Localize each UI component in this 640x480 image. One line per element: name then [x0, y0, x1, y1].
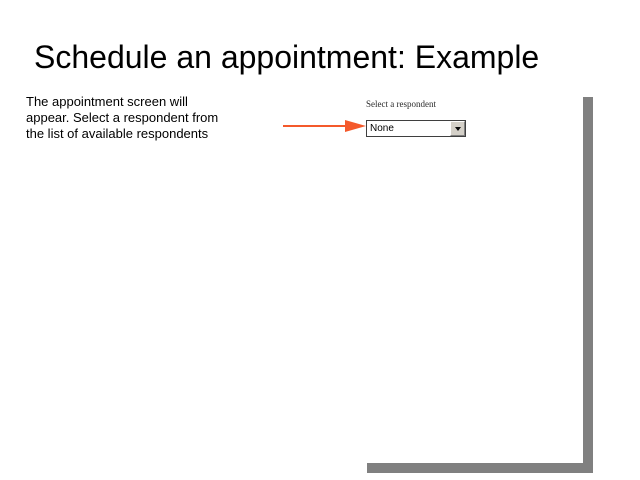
respondent-select[interactable]: None [366, 120, 466, 137]
frame-shadow-bottom [367, 463, 593, 473]
body-text-block: The appointment screen will appear. Sele… [26, 94, 258, 142]
embedded-screenshot: Select a respondent None [362, 92, 594, 474]
caret-glyph [455, 127, 461, 131]
body-text-line: the list of available respondents [26, 126, 258, 142]
body-text-line: appear. Select a respondent from [26, 110, 258, 126]
chevron-down-icon[interactable] [450, 121, 465, 136]
arrow-right-icon [282, 118, 368, 134]
body-text-line: The appointment screen will [26, 94, 258, 110]
page-title: Schedule an appointment: Example [34, 38, 614, 76]
slide-canvas: Schedule an appointment: Example The app… [0, 0, 640, 480]
frame-shadow-right [583, 97, 593, 473]
respondent-select-value: None [367, 121, 450, 136]
select-a-respondent-label: Select a respondent [366, 99, 436, 110]
